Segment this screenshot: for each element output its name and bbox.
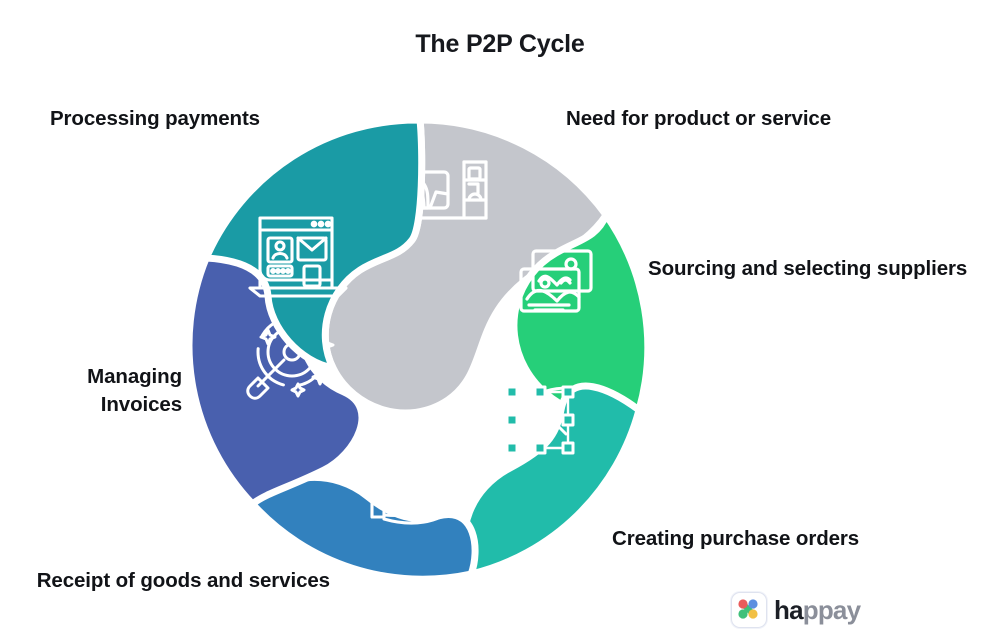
p2p-cycle-diagram — [180, 110, 660, 590]
pen-tool-icon — [507, 387, 573, 453]
label-managing-invoices: Managing Invoices — [24, 363, 182, 420]
happay-dots-icon — [732, 593, 764, 625]
segment-receipt-of-goods-shape[interactable] — [253, 477, 476, 579]
happay-wordmark: happay — [774, 597, 860, 623]
label-need-for-product: Need for product or service — [566, 105, 896, 133]
happay-word-light: ppay — [803, 595, 860, 625]
happay-word-dark: ha — [774, 595, 803, 625]
label-sourcing-suppliers: Sourcing and selecting suppliers — [648, 255, 978, 283]
page-title: The P2P Cycle — [0, 30, 1000, 59]
happay-logo[interactable]: happay — [731, 592, 860, 628]
happay-logo-mark — [731, 592, 767, 628]
label-creating-purchase-orders: Creating purchase orders — [612, 525, 942, 553]
label-receipt-of-goods: Receipt of goods and services — [24, 567, 330, 595]
label-processing-payments: Processing payments — [24, 105, 260, 133]
